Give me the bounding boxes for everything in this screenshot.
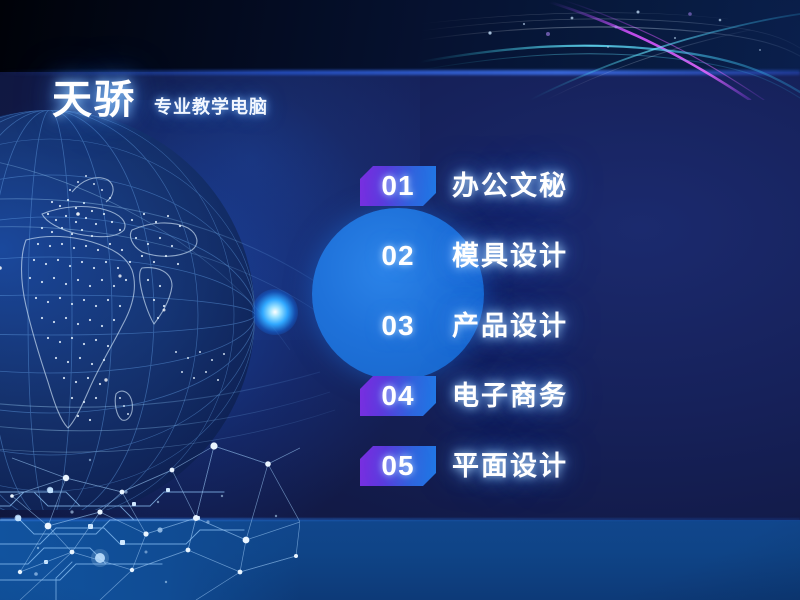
logo-subtitle-text: 专业教学电脑 <box>154 98 268 116</box>
item-number: 03 <box>381 312 414 340</box>
background-bottom-band-left <box>0 520 300 600</box>
brand-logo: 天骄 专业教学电脑 <box>52 80 268 120</box>
background-bottom-band <box>0 520 800 600</box>
list-item[interactable]: 01 办公文秘 <box>360 160 680 212</box>
item-label: 办公文秘 <box>452 173 568 200</box>
item-label: 电子商务 <box>452 383 568 410</box>
list-item[interactable]: 02 模具设计 <box>360 230 680 282</box>
item-number: 04 <box>381 382 414 410</box>
globe-glow-point <box>252 289 298 335</box>
course-category-list: 01 办公文秘 02 模具设计 03 产品设计 04 电子商务 05 <box>360 160 680 492</box>
item-number: 05 <box>381 452 414 480</box>
item-number: 02 <box>381 242 414 270</box>
background-top-band-edge <box>0 70 800 75</box>
light-streaks-decoration <box>420 0 800 100</box>
background-top-band <box>0 0 800 72</box>
number-badge: 02 <box>360 236 436 276</box>
number-badge: 03 <box>360 306 436 346</box>
item-label: 平面设计 <box>452 453 568 480</box>
digital-globe-decoration <box>0 110 340 510</box>
circuit-traces-decoration <box>0 468 330 600</box>
item-number: 01 <box>381 172 414 200</box>
number-badge: 04 <box>360 376 436 416</box>
number-badge: 01 <box>360 166 436 206</box>
background-bottom-band-edge <box>0 518 800 521</box>
logo-mark-text: 天骄 <box>52 80 136 120</box>
network-mesh-decoration <box>0 430 300 600</box>
list-item[interactable]: 03 产品设计 <box>360 300 680 352</box>
list-item[interactable]: 05 平面设计 <box>360 440 680 492</box>
list-item[interactable]: 04 电子商务 <box>360 370 680 422</box>
item-label: 模具设计 <box>452 243 568 270</box>
presentation-slide: 天骄 专业教学电脑 01 办公文秘 02 模具设计 03 产品设计 04 <box>0 0 800 600</box>
item-label: 产品设计 <box>452 313 568 340</box>
number-badge: 05 <box>360 446 436 486</box>
